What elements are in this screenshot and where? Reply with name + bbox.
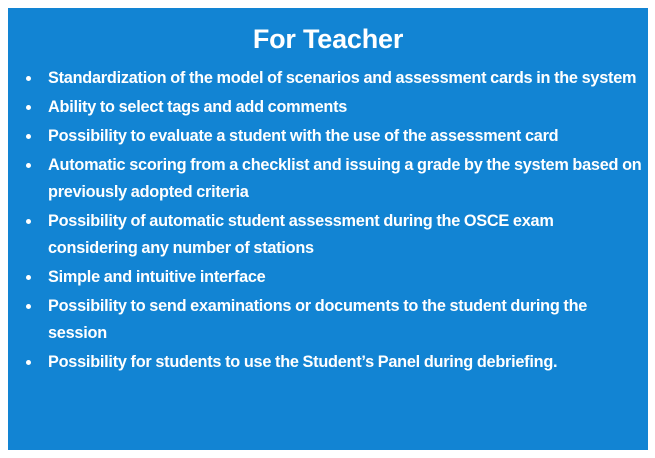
bullet-dot-icon xyxy=(26,76,31,81)
list-item-label: Possibility to send examinations or docu… xyxy=(48,293,642,347)
list-item: Ability to select tags and add comments xyxy=(20,94,642,121)
list-item-label: Possibility of automatic student assessm… xyxy=(48,208,642,262)
bullet-dot-icon xyxy=(26,304,31,309)
bullet-dot-icon xyxy=(26,134,31,139)
list-item-label: Simple and intuitive interface xyxy=(48,264,642,291)
bullet-dot-icon xyxy=(26,275,31,280)
list-item: Possibility to evaluate a student with t… xyxy=(20,123,642,150)
bullet-dot-icon xyxy=(26,163,31,168)
list-item: Automatic scoring from a checklist and i… xyxy=(20,152,642,206)
list-item: Possibility of automatic student assessm… xyxy=(20,208,642,262)
list-item-label: Possibility to evaluate a student with t… xyxy=(48,123,642,150)
list-item-label: Standardization of the model of scenario… xyxy=(48,65,642,92)
list-item-label: Possibility for students to use the Stud… xyxy=(48,349,642,376)
list-item: Possibility for students to use the Stud… xyxy=(20,349,642,376)
list-item: Simple and intuitive interface xyxy=(20,264,642,291)
feature-list: Standardization of the model of scenario… xyxy=(8,65,648,376)
for-teacher-card: For Teacher Standardization of the model… xyxy=(8,8,648,450)
bullet-dot-icon xyxy=(26,219,31,224)
list-item-label: Automatic scoring from a checklist and i… xyxy=(48,152,642,206)
list-item: Standardization of the model of scenario… xyxy=(20,65,642,92)
list-item: Possibility to send examinations or docu… xyxy=(20,293,642,347)
page-title: For Teacher xyxy=(8,8,648,65)
list-item-label: Ability to select tags and add comments xyxy=(48,94,642,121)
bullet-dot-icon xyxy=(26,360,31,365)
bullet-dot-icon xyxy=(26,105,31,110)
page-root: For Teacher Standardization of the model… xyxy=(0,0,655,458)
